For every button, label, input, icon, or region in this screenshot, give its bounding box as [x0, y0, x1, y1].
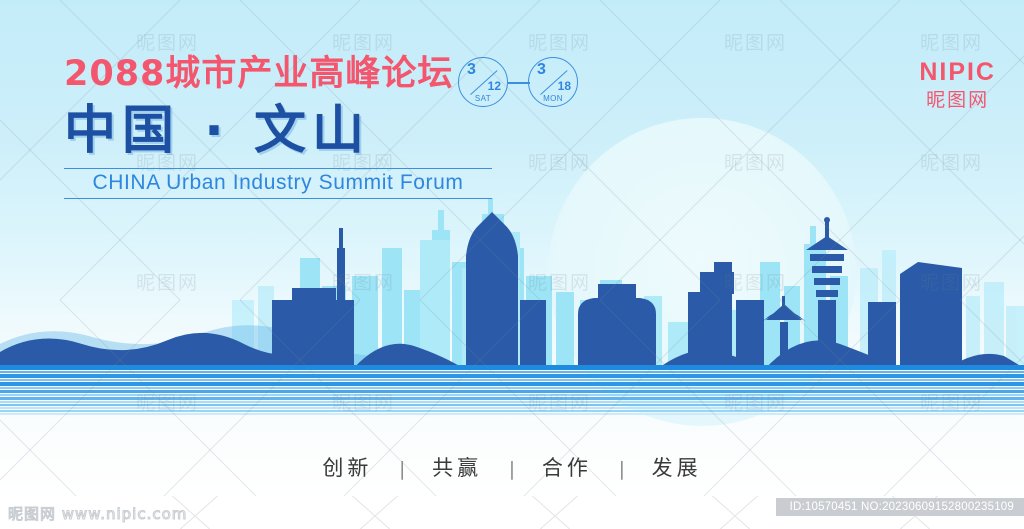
end-weekday: MON: [529, 94, 577, 103]
start-month: 3: [467, 62, 476, 78]
subtitle-english: CHINA Urban Industry Summit Forum: [64, 171, 492, 195]
slogan-separator: |: [495, 458, 529, 480]
headline-block: 2088城市产业高峰论坛 中国 · 文山 CHINA Urban Industr…: [64, 52, 704, 199]
backdrop-buildings-mid: [300, 198, 848, 370]
page-title: 中国 · 文山: [64, 100, 704, 162]
end-day: 18: [558, 80, 571, 92]
water-stripes: [0, 365, 1024, 413]
slogan-row: 创新 | 共赢 | 合作 | 发展: [0, 452, 1024, 482]
slogan-word-1: 创新: [320, 456, 374, 480]
logo-text-cn: 昵图网: [919, 88, 996, 112]
date-range-badges: 3 12 SAT 3 18 MON: [458, 57, 578, 109]
slogan-word-3: 合作: [540, 456, 594, 480]
date-connector-line: [508, 82, 530, 84]
poster-canvas: 2088城市产业高峰论坛 中国 · 文山 CHINA Urban Industr…: [0, 0, 1024, 529]
slogan-separator: |: [385, 458, 419, 480]
footer-site-label: 昵图网 www.nipic.com: [8, 503, 187, 524]
slogan-word-2: 共赢: [430, 456, 484, 480]
footer-bar: 昵图网 www.nipic.com ID:10570451 NO:2023060…: [0, 496, 1024, 529]
slogan-word-4: 发展: [650, 456, 704, 480]
event-headline: 2088城市产业高峰论坛: [64, 52, 704, 96]
poster-artboard: 2088城市产业高峰论坛 中国 · 文山 CHINA Urban Industr…: [0, 0, 1024, 496]
footer-id-label: ID:10570451 NO:20230609152800235109: [776, 498, 1024, 516]
end-date-badge: 3 18 MON: [528, 57, 578, 107]
start-day: 12: [488, 80, 501, 92]
slogan-separator: |: [605, 458, 639, 480]
start-date-badge: 3 12 SAT: [458, 57, 508, 107]
nipic-logo: NIPIC 昵图网: [919, 58, 996, 112]
logo-text-en: NIPIC: [919, 58, 996, 86]
subtitle-rule: CHINA Urban Industry Summit Forum: [64, 168, 492, 199]
start-weekday: SAT: [459, 94, 507, 103]
end-month: 3: [537, 62, 546, 78]
